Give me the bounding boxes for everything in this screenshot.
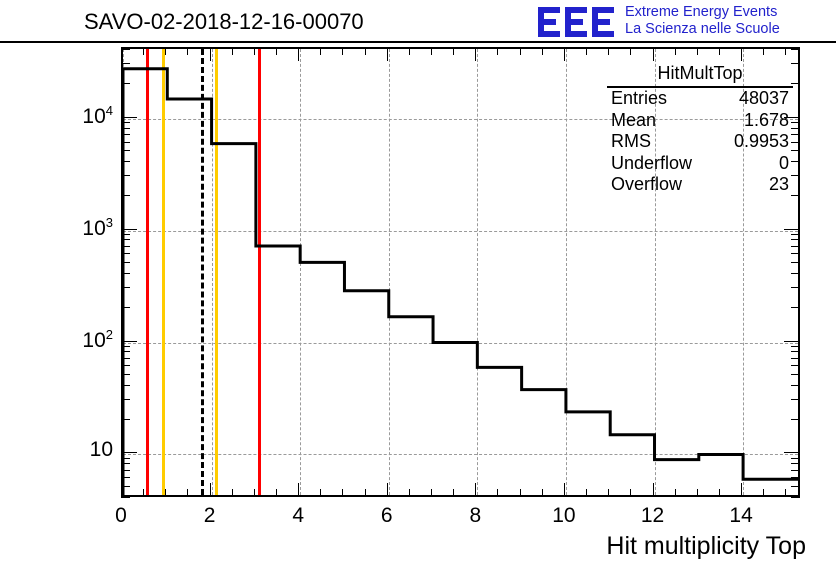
y-axis-tick-minor bbox=[121, 358, 130, 359]
x-axis-tick-minor bbox=[409, 47, 410, 55]
eee-logo-line1: Extreme Energy Events bbox=[625, 4, 780, 21]
stats-row: Overflow23 bbox=[607, 174, 793, 196]
stats-row-key: Overflow bbox=[611, 174, 682, 196]
eee-logo-block: Extreme Energy Events La Scienza nelle S… bbox=[537, 2, 836, 42]
y-axis-tick-minor bbox=[791, 463, 800, 464]
y-axis-tick-minor bbox=[791, 161, 800, 162]
x-axis-tick-minor bbox=[520, 489, 521, 497]
y-axis-tick-minor bbox=[791, 83, 800, 84]
y-axis-tick-minor bbox=[121, 477, 130, 478]
y-axis-tick-minor bbox=[121, 253, 130, 254]
x-axis-tick-minor bbox=[497, 47, 498, 55]
x-axis-tick-minor bbox=[542, 489, 543, 497]
y-axis-tick-minor bbox=[121, 273, 130, 274]
y-axis-tick-label: 102 bbox=[43, 327, 113, 353]
x-axis-tick-minor bbox=[763, 47, 764, 55]
x-axis-tick-minor bbox=[165, 47, 166, 55]
x-axis-tick-minor bbox=[630, 489, 631, 497]
x-axis-tick-minor bbox=[719, 489, 720, 497]
y-axis-tick-minor bbox=[791, 246, 800, 247]
y-axis-tick-minor bbox=[121, 458, 130, 459]
y-axis-tick-minor bbox=[121, 307, 130, 308]
y-axis-tick-minor bbox=[121, 463, 130, 464]
y-axis-tick-minor bbox=[121, 399, 130, 400]
x-axis-tick-minor bbox=[165, 489, 166, 497]
y-axis-tick-minor bbox=[121, 83, 130, 84]
x-axis-tick-minor bbox=[143, 47, 144, 55]
x-axis-tick-major bbox=[210, 483, 211, 497]
x-axis-tick-minor bbox=[497, 489, 498, 497]
x-axis-tick-major bbox=[741, 483, 742, 497]
x-axis-tick-minor bbox=[365, 47, 366, 55]
x-axis-tick-major bbox=[741, 47, 742, 61]
y-axis-tick-minor bbox=[791, 486, 800, 487]
x-axis-tick-minor bbox=[254, 47, 255, 55]
x-axis-tick-minor bbox=[276, 47, 277, 55]
x-axis-tick-major bbox=[475, 47, 476, 61]
x-axis-tick-minor bbox=[520, 47, 521, 55]
y-axis-tick-minor bbox=[121, 287, 130, 288]
y-axis-tick-minor bbox=[791, 477, 800, 478]
stats-row-key: Mean bbox=[611, 110, 656, 132]
x-axis-tick-minor bbox=[697, 47, 698, 55]
x-axis-tick-major bbox=[653, 483, 654, 497]
x-axis-tick-major bbox=[564, 483, 565, 497]
x-axis-tick-major bbox=[210, 47, 211, 61]
y-axis-tick-major bbox=[121, 117, 137, 118]
y-axis-tick-minor bbox=[791, 234, 800, 235]
stats-row-value: 1.678 bbox=[744, 110, 789, 132]
x-axis-tick-label: 6 bbox=[357, 504, 417, 528]
x-axis-tick-minor bbox=[608, 489, 609, 497]
header-divider bbox=[0, 41, 836, 43]
x-axis-tick-major bbox=[564, 47, 565, 61]
x-axis-tick-minor bbox=[143, 489, 144, 497]
y-axis-tick-minor bbox=[121, 374, 130, 375]
y-axis-tick-minor bbox=[121, 128, 130, 129]
y-axis-tick-minor bbox=[121, 262, 130, 263]
y-axis-tick-minor bbox=[121, 365, 130, 366]
y-axis-tick-minor bbox=[791, 287, 800, 288]
y-axis-tick-minor bbox=[791, 470, 800, 471]
x-axis-tick-minor bbox=[542, 47, 543, 55]
stats-row-key: RMS bbox=[611, 131, 651, 153]
x-axis-tick-major bbox=[387, 47, 388, 61]
x-axis-tick-minor bbox=[675, 489, 676, 497]
y-axis-tick-minor bbox=[121, 385, 130, 386]
x-axis-title: Hit multiplicity Top bbox=[606, 532, 806, 561]
x-axis-tick-minor bbox=[187, 489, 188, 497]
y-axis-tick-major bbox=[121, 452, 137, 453]
stats-row-value: 0 bbox=[779, 153, 789, 175]
y-axis-tick-major bbox=[784, 229, 800, 230]
y-axis-tick-minor bbox=[791, 134, 800, 135]
y-axis-tick-minor bbox=[121, 346, 130, 347]
x-axis-tick-minor bbox=[785, 489, 786, 497]
y-axis-tick-minor bbox=[121, 49, 130, 50]
x-axis-tick-major bbox=[121, 483, 122, 497]
y-axis-tick-label: 104 bbox=[43, 103, 113, 129]
x-axis-tick-minor bbox=[586, 489, 587, 497]
y-axis-tick-minor bbox=[121, 246, 130, 247]
y-axis-tick-minor bbox=[791, 253, 800, 254]
y-axis-tick-minor bbox=[791, 142, 800, 143]
y-axis-tick-minor bbox=[791, 49, 800, 50]
x-axis-tick-minor bbox=[697, 489, 698, 497]
y-axis-tick-minor bbox=[791, 458, 800, 459]
y-axis-tick-minor bbox=[791, 358, 800, 359]
x-axis-tick-minor bbox=[320, 47, 321, 55]
eee-logo-text: Extreme Energy Events La Scienza nelle S… bbox=[625, 4, 780, 38]
y-axis-tick-major bbox=[784, 452, 800, 453]
x-axis-tick-minor bbox=[719, 47, 720, 55]
y-axis-tick-minor bbox=[121, 239, 130, 240]
x-axis-tick-minor bbox=[675, 47, 676, 55]
y-axis-tick-minor bbox=[791, 175, 800, 176]
x-axis-tick-minor bbox=[431, 47, 432, 55]
x-axis-tick-minor bbox=[785, 47, 786, 55]
x-axis-tick-minor bbox=[630, 47, 631, 55]
x-axis-tick-minor bbox=[608, 47, 609, 55]
eee-logo-line2: La Scienza nelle Scuole bbox=[625, 21, 780, 38]
x-axis-tick-minor bbox=[453, 489, 454, 497]
y-axis-tick-minor bbox=[791, 128, 800, 129]
y-axis-tick-major bbox=[121, 229, 137, 230]
y-axis-tick-minor bbox=[791, 497, 800, 498]
stats-row-key: Entries bbox=[611, 88, 667, 110]
stats-row-key: Underflow bbox=[611, 153, 692, 175]
x-axis-tick-minor bbox=[187, 47, 188, 55]
x-axis-tick-minor bbox=[409, 489, 410, 497]
y-axis-tick-minor bbox=[791, 122, 800, 123]
x-axis-tick-label: 8 bbox=[445, 504, 505, 528]
y-axis-tick-minor bbox=[121, 142, 130, 143]
x-axis-tick-minor bbox=[254, 489, 255, 497]
y-axis-tick-minor bbox=[791, 63, 800, 64]
x-axis-tick-minor bbox=[763, 489, 764, 497]
y-axis-tick-minor bbox=[791, 385, 800, 386]
stats-title: HitMultTop bbox=[607, 62, 793, 88]
stats-row: Mean1.678 bbox=[607, 110, 793, 132]
y-axis-tick-major bbox=[121, 341, 137, 342]
x-axis-tick-minor bbox=[320, 489, 321, 497]
y-axis-tick-minor bbox=[791, 273, 800, 274]
y-axis-tick-minor bbox=[791, 150, 800, 151]
y-axis-tick-minor bbox=[121, 486, 130, 487]
stats-row-value: 48037 bbox=[739, 88, 789, 110]
stats-row: Underflow0 bbox=[607, 153, 793, 175]
x-axis-tick-minor bbox=[342, 489, 343, 497]
x-axis-tick-label: 10 bbox=[534, 504, 594, 528]
y-axis-tick-minor bbox=[121, 63, 130, 64]
x-axis-tick-major bbox=[475, 483, 476, 497]
x-axis-tick-label: 14 bbox=[711, 504, 771, 528]
stats-box: HitMultTop Entries48037Mean1.678RMS0.995… bbox=[607, 62, 793, 196]
x-axis-tick-minor bbox=[453, 47, 454, 55]
x-axis-tick-major bbox=[387, 483, 388, 497]
y-axis-tick-minor bbox=[791, 374, 800, 375]
y-axis-tick-minor bbox=[121, 150, 130, 151]
y-axis-tick-major bbox=[784, 341, 800, 342]
x-axis-tick-major bbox=[298, 483, 299, 497]
x-axis-tick-minor bbox=[276, 489, 277, 497]
y-axis-tick-minor bbox=[791, 195, 800, 196]
stats-row-value: 23 bbox=[769, 174, 789, 196]
y-axis-tick-minor bbox=[121, 351, 130, 352]
page-title: SAVO-02-2018-12-16-00070 bbox=[84, 9, 364, 35]
x-axis-tick-minor bbox=[586, 47, 587, 55]
y-axis-tick-minor bbox=[121, 470, 130, 471]
x-axis-tick-minor bbox=[365, 489, 366, 497]
stats-row: RMS0.9953 bbox=[607, 131, 793, 153]
x-axis-tick-major bbox=[298, 47, 299, 61]
y-axis-tick-minor bbox=[791, 365, 800, 366]
x-axis-tick-major bbox=[653, 47, 654, 61]
stats-row: Entries48037 bbox=[607, 88, 793, 110]
y-axis-tick-minor bbox=[121, 161, 130, 162]
x-axis-tick-label: 0 bbox=[91, 504, 151, 528]
y-axis-tick-minor bbox=[121, 419, 130, 420]
y-axis-tick-minor bbox=[121, 134, 130, 135]
y-axis-tick-label: 10 bbox=[43, 438, 113, 462]
y-axis-tick-minor bbox=[791, 346, 800, 347]
y-axis-tick-minor bbox=[791, 419, 800, 420]
x-axis-tick-label: 4 bbox=[268, 504, 328, 528]
y-axis-tick-minor bbox=[121, 175, 130, 176]
y-axis-tick-minor bbox=[121, 497, 130, 498]
y-axis-tick-minor bbox=[121, 122, 130, 123]
y-axis-tick-minor bbox=[791, 262, 800, 263]
y-axis-tick-minor bbox=[121, 234, 130, 235]
x-axis-tick-minor bbox=[431, 489, 432, 497]
y-axis-tick-minor bbox=[791, 307, 800, 308]
y-axis-tick-minor bbox=[791, 239, 800, 240]
x-axis-tick-minor bbox=[232, 489, 233, 497]
x-axis-tick-minor bbox=[232, 47, 233, 55]
y-axis-tick-minor bbox=[121, 195, 130, 196]
x-axis-tick-label: 2 bbox=[180, 504, 240, 528]
x-axis-tick-minor bbox=[342, 47, 343, 55]
eee-logo-icon bbox=[537, 5, 619, 39]
y-axis-tick-label: 103 bbox=[43, 215, 113, 241]
x-axis-tick-label: 12 bbox=[623, 504, 683, 528]
y-axis-tick-minor bbox=[791, 399, 800, 400]
stats-row-value: 0.9953 bbox=[734, 131, 789, 153]
y-axis-tick-minor bbox=[791, 351, 800, 352]
y-axis-tick-major bbox=[784, 117, 800, 118]
stats-rows: Entries48037Mean1.678RMS0.9953Underflow0… bbox=[607, 88, 793, 196]
